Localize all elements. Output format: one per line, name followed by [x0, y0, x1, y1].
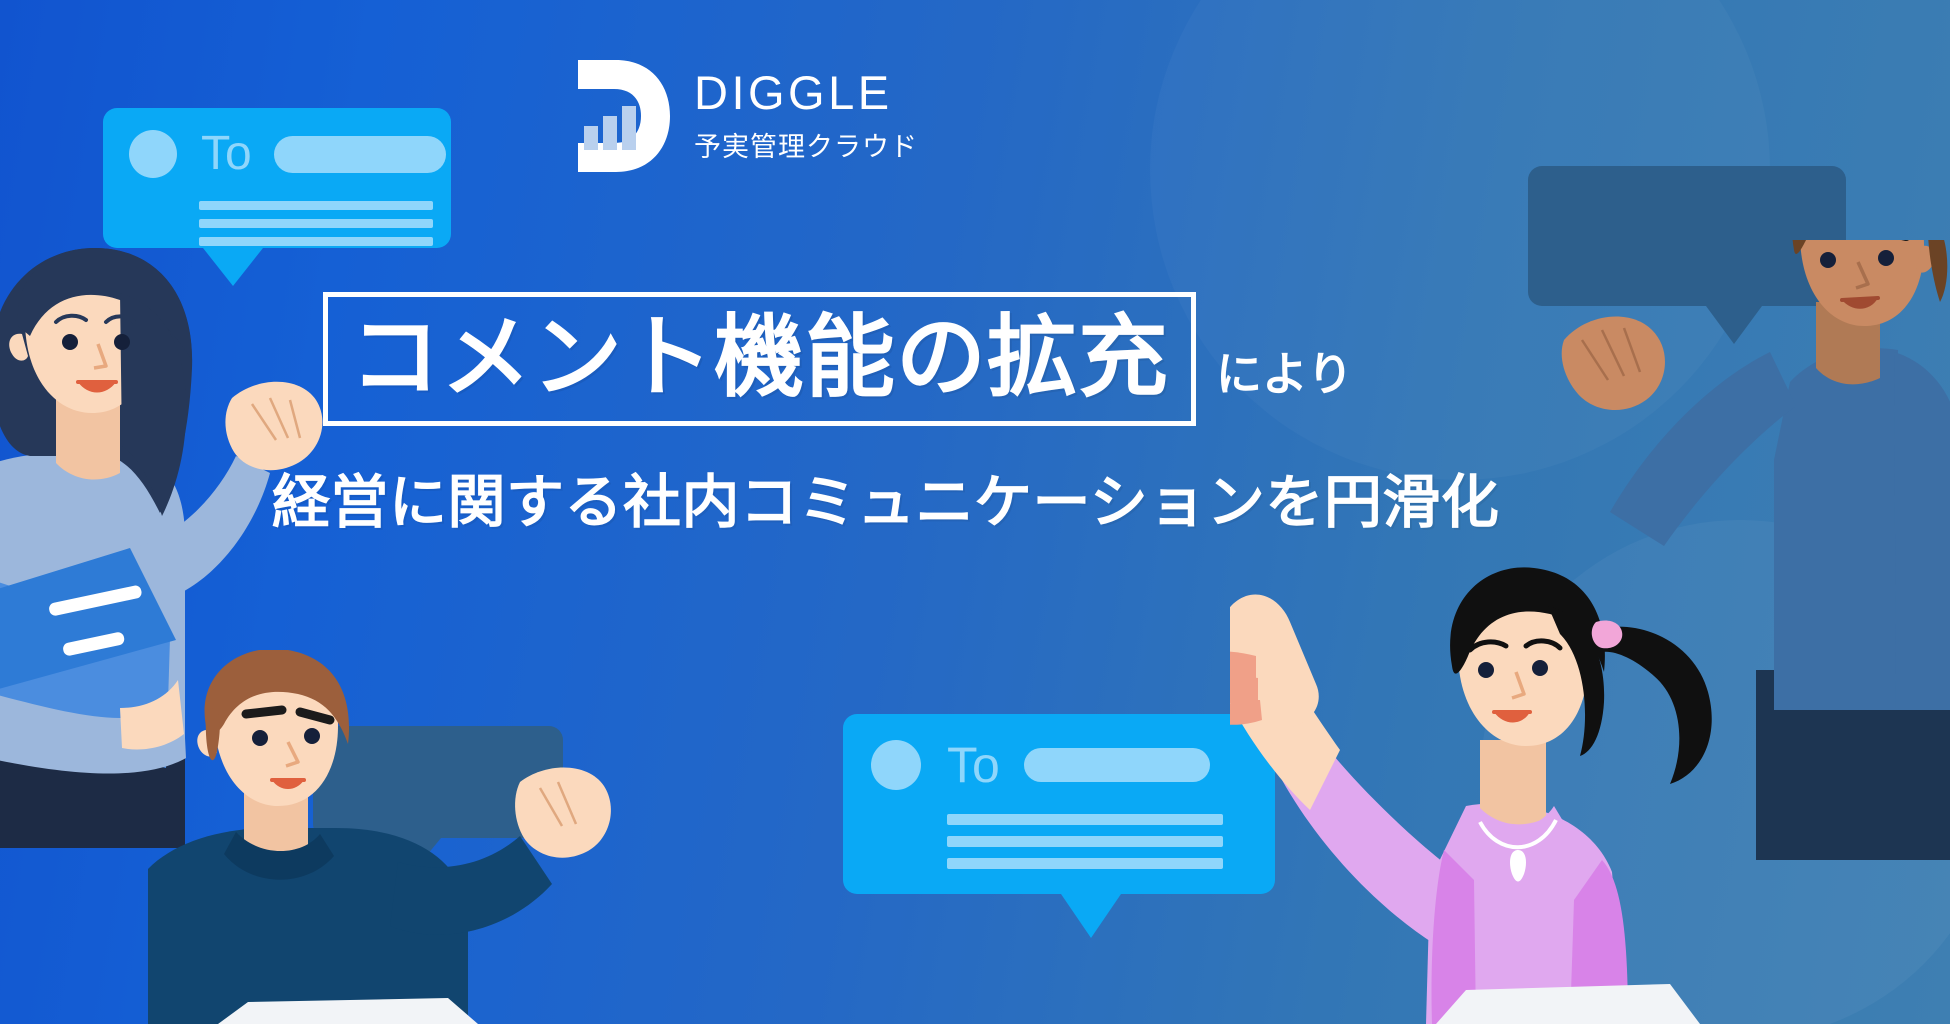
- comment-text-line: [947, 814, 1223, 825]
- diggle-d-bar-chart-logo-icon: [578, 60, 670, 172]
- woman-pink-top-pointing: [1230, 560, 1750, 1024]
- comment-card-bottom-right: To: [843, 714, 1275, 894]
- avatar: [129, 130, 177, 178]
- comment-card-to-label: To: [947, 740, 1000, 790]
- man-navy-sweater: [148, 650, 618, 1024]
- recipient-pill: [274, 136, 446, 173]
- comment-card-tail: [1061, 894, 1121, 938]
- headline-row: コメント機能の拡充 により: [323, 292, 1353, 426]
- subheadline-text: 経営に関する社内コミュニケーションを円滑化: [272, 455, 1499, 539]
- recipient-pill: [1024, 748, 1210, 782]
- comment-card-to-label: To: [201, 130, 252, 178]
- comment-text-line: [947, 858, 1223, 869]
- comment-text-line: [199, 219, 433, 228]
- comment-card-top-left: To: [103, 108, 451, 248]
- headline-box: コメント機能の拡充: [323, 292, 1196, 426]
- logo-wordmark: DIGGLE: [694, 69, 918, 116]
- promo-banner: DIGGLE 予実管理クラウド To To: [0, 0, 1950, 1024]
- comment-card-header: To: [871, 740, 1210, 790]
- diggle-logo[interactable]: DIGGLE 予実管理クラウド: [578, 60, 918, 172]
- avatar: [871, 740, 921, 790]
- comment-text-line: [947, 836, 1223, 847]
- comment-card-header: To: [129, 130, 446, 178]
- headline-main-text: コメント機能の拡充: [350, 313, 1169, 403]
- logo-tagline: 予実管理クラウド: [694, 125, 918, 164]
- comment-text-line: [199, 201, 433, 210]
- comment-text-line: [199, 237, 433, 246]
- headline-suffix-text: により: [1216, 338, 1353, 404]
